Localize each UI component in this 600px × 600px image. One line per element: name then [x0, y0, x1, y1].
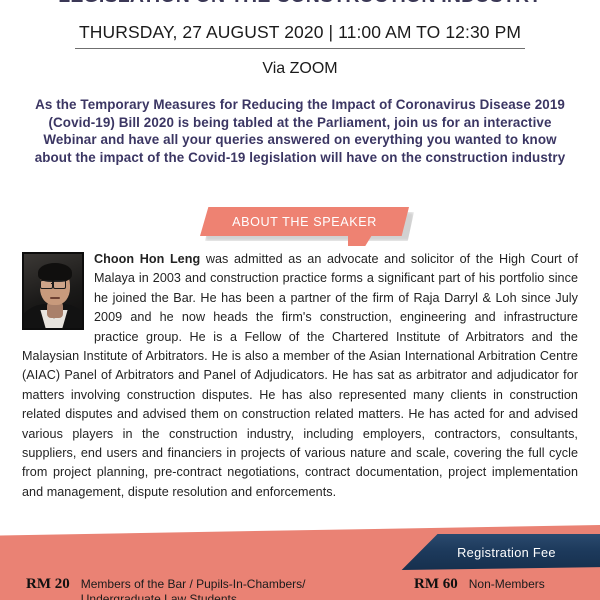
speaker-name: Choon Hon Leng [94, 252, 200, 266]
ribbon-tail-icon [348, 235, 372, 246]
fee-amount-nonmember: RM 60 [414, 576, 458, 593]
page-title: LEGISLATION ON THE CONSTRUCTION INDUSTRY [0, 0, 600, 8]
event-platform: Via ZOOM [0, 60, 600, 78]
fee-description-member: Members of the Bar / Pupils-In-Chambers/… [81, 576, 356, 600]
registration-fee-label: Registration Fee [457, 545, 556, 560]
speaker-bio: Choon Hon Leng was admitted as an advoca… [22, 250, 578, 502]
datetime-row: THURSDAY, 27 AUGUST 2020 | 11:00 AM TO 1… [0, 22, 600, 49]
webinar-poster: LEGISLATION ON THE CONSTRUCTION INDUSTRY… [0, 0, 600, 600]
speaker-photo [22, 252, 84, 330]
headline-clip: LEGISLATION ON THE CONSTRUCTION INDUSTRY [0, 0, 600, 12]
photo-glasses-left [40, 280, 53, 289]
fee-row-nonmember: RM 60 Non-Members [414, 576, 600, 593]
event-datetime: THURSDAY, 27 AUGUST 2020 | 11:00 AM TO 1… [75, 22, 525, 49]
about-speaker-banner: ABOUT THE SPEAKER [200, 207, 409, 236]
photo-mouth [50, 297, 60, 299]
fee-description-nonmember: Non-Members [469, 576, 545, 592]
speaker-bio-text: was admitted as an advocate and solicito… [22, 252, 578, 499]
fee-amount-member: RM 20 [26, 576, 70, 593]
photo-glasses-bridge [51, 283, 53, 284]
photo-glasses-right [53, 280, 66, 289]
about-speaker-ribbon: ABOUT THE SPEAKER [200, 207, 414, 247]
event-description: As the Temporary Measures for Reducing t… [28, 96, 572, 166]
fee-row-member: RM 20 Members of the Bar / Pupils-In-Cha… [26, 576, 356, 600]
about-speaker-label: ABOUT THE SPEAKER [232, 215, 377, 229]
